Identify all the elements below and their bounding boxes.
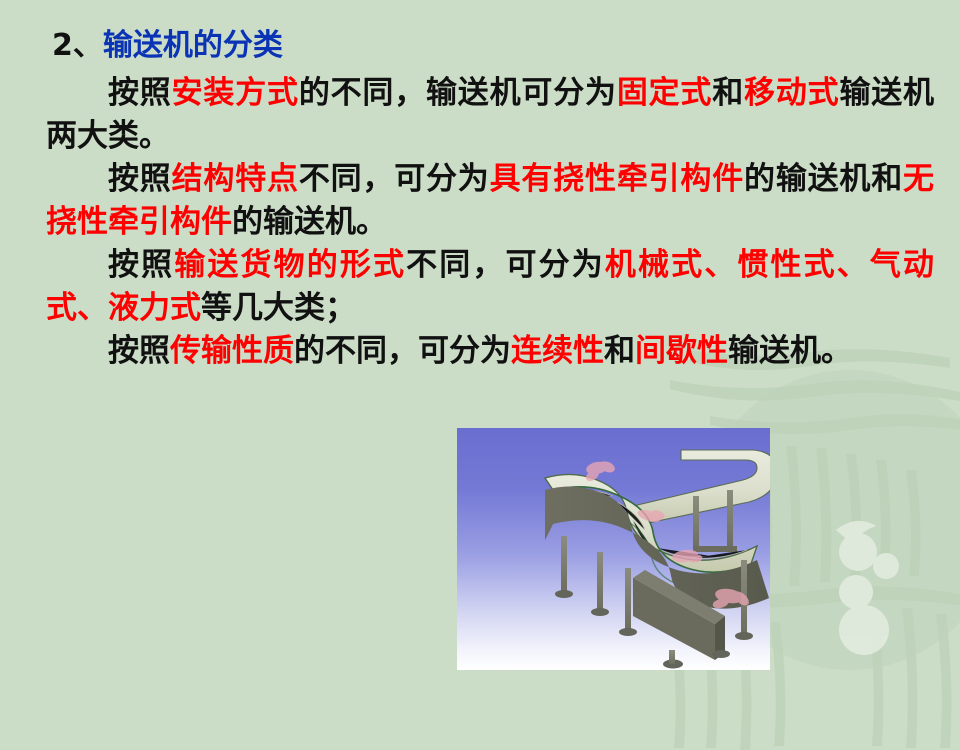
text-segment: 结构特点 — [172, 161, 299, 197]
paragraph-cargo-form: 按照输送货物的形式不同，可分为机械式、惯性式、气动式、液力式等几大类； — [46, 244, 934, 330]
text-segment: 不同，可分为 — [299, 161, 490, 197]
text-segment: 固定式 — [617, 75, 712, 111]
text-segment: 输送机。 — [728, 333, 852, 369]
text-segment: 按照 — [108, 75, 172, 111]
paragraph-structure: 按照结构特点不同，可分为具有挠性牵引构件的输送机和无挠性牵引构件的输送机。 — [46, 158, 934, 244]
text-segment: 不同，可分为 — [406, 247, 605, 283]
text-segment: 间歇性 — [635, 333, 728, 369]
paragraph-transmission-nature: 按照传输性质的不同，可分为连续性和间歇性输送机。 — [46, 330, 934, 373]
text-segment: 按照 — [108, 333, 170, 369]
title-heading: 输送机的分类 — [103, 28, 283, 63]
text-segment: 的输送机。 — [232, 204, 387, 240]
text-segment: 移动式 — [744, 75, 839, 111]
text-segment: 和 — [712, 75, 744, 111]
text-segment: 传输性质 — [170, 333, 294, 369]
text-segment: 和 — [604, 333, 635, 369]
text-segment: 按照 — [108, 161, 172, 197]
text-segment: 按照 — [108, 247, 174, 283]
text-segment: 的不同，可分为 — [294, 333, 511, 369]
text-segment: 连续性 — [511, 333, 604, 369]
text-segment: 的不同，输送机可分为 — [299, 75, 617, 111]
title-number: 2、 — [52, 28, 103, 63]
text-segment: 的输送机和 — [744, 161, 903, 197]
text-segment: 等几大类； — [201, 290, 356, 326]
text-segment: 具有挠性牵引构件 — [490, 161, 744, 197]
text-segment: 安装方式 — [172, 75, 299, 111]
page-title: 2、输送机的分类 — [52, 28, 283, 63]
body-paragraphs: 按照安装方式的不同，输送机可分为固定式和移动式输送机两大类。 按照结构特点不同，… — [46, 72, 934, 373]
curved-belt-conveyor-photo — [457, 428, 770, 670]
text-segment: 输送货物的形式 — [174, 247, 406, 283]
paragraph-installation: 按照安装方式的不同，输送机可分为固定式和移动式输送机两大类。 — [46, 72, 934, 158]
